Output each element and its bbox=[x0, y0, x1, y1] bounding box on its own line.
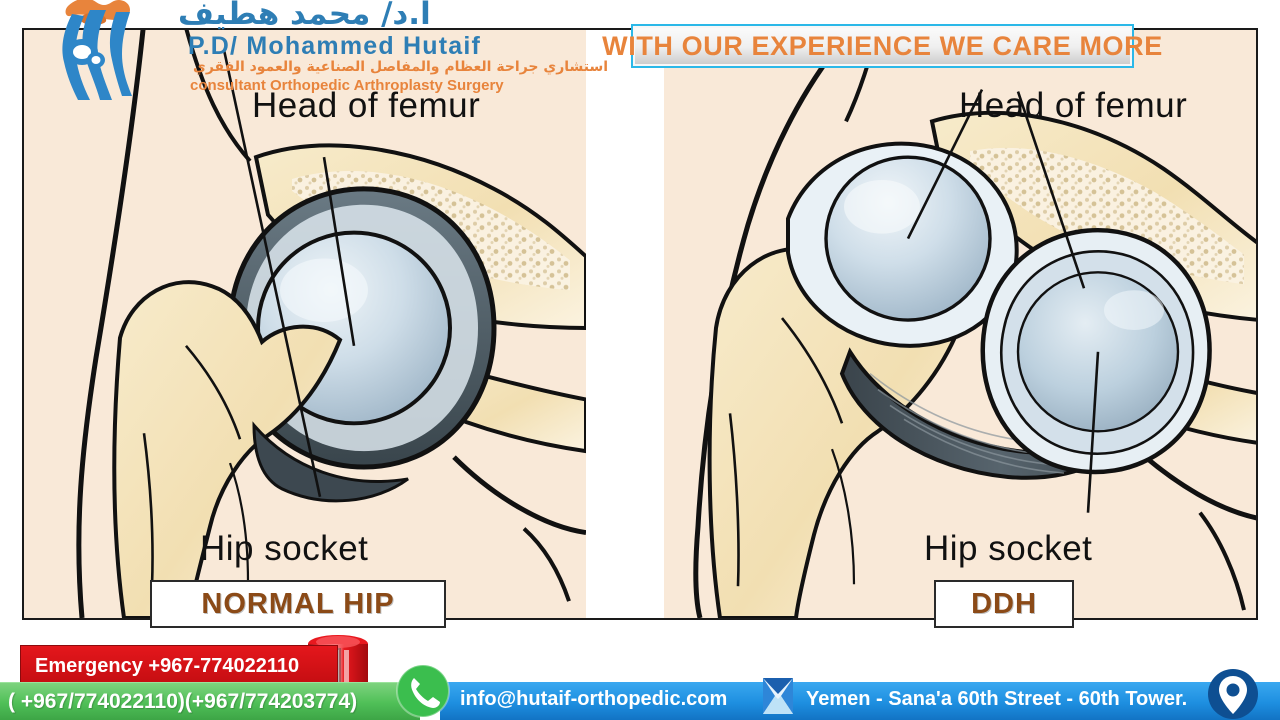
doctor-name-english: P.D/ Mohammed Hutaif bbox=[188, 32, 481, 61]
diagram-frame: Head of femur Hip socket bbox=[22, 28, 1258, 620]
phone-numbers-text: ( +967/774022110)(+967/774203774) bbox=[0, 690, 357, 714]
specialty-arabic: استشاري جراحة العظام والمفاصل الصناعية و… bbox=[193, 59, 608, 75]
doctor-name-arabic: أ.د/ محمد هطيف bbox=[178, 0, 431, 32]
panel-divider bbox=[586, 30, 664, 618]
caption-ddh: DDH bbox=[934, 580, 1074, 628]
specialty-english: consultant Orthopedic Arthroplasty Surge… bbox=[190, 77, 504, 94]
label-hip-socket-normal: Hip socket bbox=[200, 529, 368, 569]
label-head-of-femur-ddh: Head of femur bbox=[959, 86, 1187, 126]
panel-normal-hip: Head of femur Hip socket bbox=[24, 30, 586, 618]
caption-ddh-text: DDH bbox=[971, 588, 1037, 621]
caption-normal-hip-text: NORMAL HIP bbox=[201, 588, 394, 621]
slogan-text: WITH OUR EXPERIENCE WE CARE MORE bbox=[602, 31, 1163, 62]
address-text: Yemen - Sana'a 60th Street - 60th Tower. bbox=[806, 688, 1187, 711]
email-text[interactable]: info@hutaif-orthopedic.com bbox=[460, 688, 727, 711]
envelope-icon[interactable] bbox=[755, 672, 801, 718]
emergency-banner: Emergency +967-774022110 bbox=[20, 645, 338, 687]
infographic-root: Head of femur Hip socket bbox=[0, 0, 1280, 720]
slogan-banner: WITH OUR EXPERIENCE WE CARE MORE bbox=[631, 24, 1134, 68]
panel-ddh-hip: Head of femur Hip socket bbox=[664, 30, 1258, 618]
emergency-text: Emergency +967-774022110 bbox=[21, 655, 299, 678]
phone-numbers-bar: ( +967/774022110)(+967/774203774) bbox=[0, 682, 420, 720]
caption-normal-hip: NORMAL HIP bbox=[150, 580, 446, 628]
orthopedic-joint-logo-icon bbox=[38, 0, 143, 100]
map-pin-icon[interactable] bbox=[1207, 668, 1259, 720]
phone-handset-icon[interactable] bbox=[395, 663, 451, 719]
clinic-branding: أ.د/ محمد هطيف P.D/ Mohammed Hutaif استش… bbox=[38, 0, 558, 100]
label-hip-socket-ddh: Hip socket bbox=[924, 529, 1092, 569]
